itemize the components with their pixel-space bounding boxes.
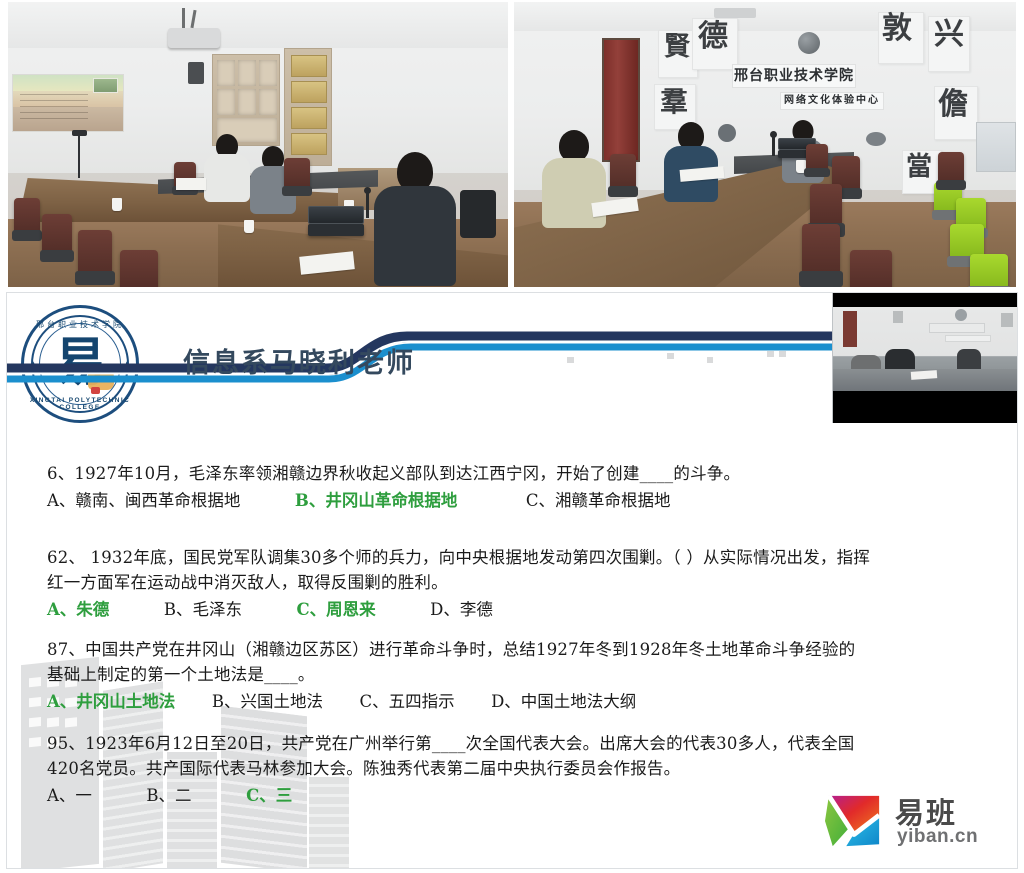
paper-cup <box>244 220 254 233</box>
chair <box>938 152 964 182</box>
option-a[interactable]: A、赣南、闽西革命根据地 <box>47 488 240 514</box>
question-stem-line-1: 62、 1932年底，国民党军队调集30多个师的兵力，向中央根据地发动第四次围剿… <box>47 545 995 570</box>
chair <box>14 198 40 232</box>
yiban-mark-icon <box>823 792 885 850</box>
wall-title: 邢台职业技术学院 <box>732 64 856 88</box>
room-scene-left <box>8 2 508 287</box>
ceiling <box>8 2 508 48</box>
question-stem-line-2: 420名党员。共产国际代表马林参加大会。陈独秀代表第二届中央执行委员会作报告。 <box>47 756 995 781</box>
option-a[interactable]: A、井冈山土地法 <box>47 689 175 715</box>
microphone <box>366 192 369 218</box>
emblem-icon <box>866 132 886 146</box>
question-62: 62、 1932年底，国民党军队调集30多个师的兵力，向中央根据地发动第四次围剿… <box>47 545 995 623</box>
room-scene-right: 賢 德 羣 敦 兴 儋 當 邢台职业技术学院 网络文化体验中心 <box>514 2 1016 287</box>
option-c[interactable]: C、三 <box>246 783 292 809</box>
question-options: A、井冈山土地法 B、兴国土地法 C、五四指示 D、中国土地法大纲 <box>47 689 995 715</box>
projector-icon <box>168 28 220 48</box>
notepad <box>176 178 206 190</box>
chair-green <box>970 254 1008 287</box>
option-c[interactable]: C、五四指示 <box>359 689 454 715</box>
globe-icon <box>798 32 820 54</box>
option-b[interactable]: B、毛泽东 <box>164 597 242 623</box>
equipment-bag <box>460 190 496 238</box>
question-stem-line-2: 红一方面军在运动战中消灭敌人，取得反围剿的胜利。 <box>47 570 995 595</box>
chair <box>802 224 840 274</box>
question-options: A、赣南、闽西革命根据地 B、井冈山革命根据地 C、湘赣革命根据地 <box>47 488 995 514</box>
chair <box>78 230 112 274</box>
door <box>602 38 640 162</box>
ceiling-projector-icon <box>714 8 756 18</box>
calligraphy-glyph: 儋 <box>938 90 968 120</box>
question-stem-line-2: 基础上制定的第一个土地法是____。 <box>47 662 995 687</box>
laptop <box>308 224 364 236</box>
video-strip: 賢 德 羣 敦 兴 儋 當 邢台职业技术学院 网络文化体验中心 <box>0 0 1024 289</box>
chair <box>810 184 842 226</box>
calligraphy-glyph: 敦 <box>882 14 912 44</box>
screen-root: 賢 德 羣 敦 兴 儋 當 邢台职业技术学院 网络文化体验中心 <box>0 0 1024 873</box>
calligraphy-glyph: 兴 <box>934 20 964 50</box>
microphone <box>772 136 775 156</box>
presentation-slide[interactable]: 邢台职业技术学院 易 ★ ★ XINGTAI POLYTECHNIC COLLE… <box>6 292 1018 869</box>
bookshelf <box>212 54 280 146</box>
paper-cup <box>112 198 122 211</box>
page-title: 信息系马晓利老师 <box>183 341 415 380</box>
option-b[interactable]: B、兴国土地法 <box>212 689 323 715</box>
yiban-logo: 易班 yiban.cn <box>823 790 999 856</box>
presenter-webcam-inset[interactable] <box>832 293 1018 423</box>
question-stem: 6、1927年10月，毛泽东率领湘赣边界秋收起义部队到达江西宁冈，开始了创建__… <box>47 461 995 486</box>
chair <box>120 250 158 287</box>
option-b[interactable]: B、二 <box>146 783 191 809</box>
tripod <box>78 132 80 178</box>
chair <box>284 158 310 188</box>
question-stem-line-1: 95、1923年6月12日至20日，共产党在广州举行第____次全国代表大会。出… <box>47 731 995 756</box>
inset-room-scene <box>833 307 1018 391</box>
option-c[interactable]: C、湘赣革命根据地 <box>526 488 671 514</box>
chair <box>42 214 72 252</box>
wall-speaker <box>188 62 204 84</box>
calligraphy-glyph: 賢 <box>664 34 690 60</box>
attendee-2 <box>666 122 716 202</box>
calligraphy-glyph: 當 <box>906 154 932 180</box>
question-options: A、朱德 B、毛泽东 C、周恩来 D、李德 <box>47 597 995 623</box>
option-a[interactable]: A、朱德 <box>47 597 109 623</box>
option-c[interactable]: C、周恩来 <box>296 597 375 623</box>
question-87: 87、中国共产党在井冈山（湘赣边区苏区）进行革命斗争时，总结1927年冬到192… <box>47 637 995 715</box>
projection-screen <box>12 74 124 132</box>
option-a[interactable]: A、一 <box>47 783 92 809</box>
attendee-1 <box>204 134 250 204</box>
chair <box>610 154 636 188</box>
option-b[interactable]: B、井冈山革命根据地 <box>295 488 457 514</box>
video-tile-left[interactable] <box>8 2 508 287</box>
chair <box>850 250 892 287</box>
chair-green <box>950 224 984 258</box>
slide-header: 邢台职业技术学院 易 ★ ★ XINGTAI POLYTECHNIC COLLE… <box>7 293 1017 421</box>
window <box>976 122 1016 172</box>
yiban-domain-text: yiban.cn <box>897 826 978 848</box>
chair <box>806 144 828 170</box>
question-stem-line-1: 87、中国共产党在井冈山（湘赣边区苏区）进行革命斗争时，总结1927年冬到192… <box>47 637 995 662</box>
wall-subtitle: 网络文化体验中心 <box>780 92 884 110</box>
option-d[interactable]: D、中国土地法大纲 <box>491 689 636 715</box>
calligraphy-glyph: 德 <box>698 22 728 52</box>
video-tile-right[interactable]: 賢 德 羣 敦 兴 儋 當 邢台职业技术学院 网络文化体验中心 <box>514 2 1016 287</box>
emblem-icon <box>718 124 736 142</box>
question-6: 6、1927年10月，毛泽东率领湘赣边界秋收起义部队到达江西宁冈，开始了创建__… <box>47 461 995 514</box>
calligraphy-glyph: 羣 <box>660 88 688 116</box>
tripod-head <box>72 130 87 136</box>
option-d[interactable]: D、李德 <box>430 597 493 623</box>
attendee-3-foreground <box>376 152 454 287</box>
